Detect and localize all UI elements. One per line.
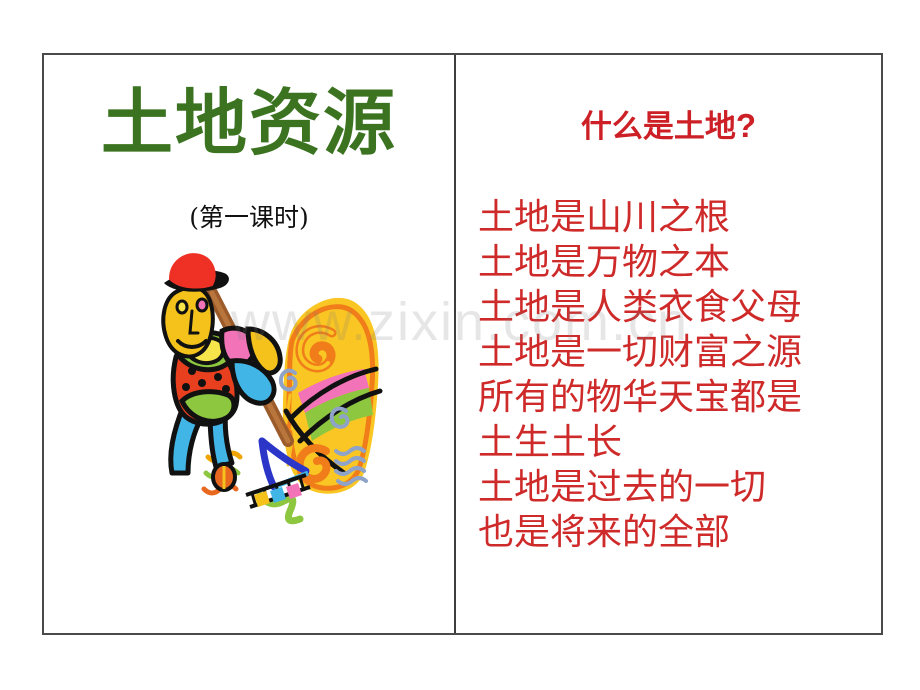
verse-line: 土地是一切财富之源 <box>478 330 872 375</box>
verse-line: 土地是人类衣食父母 <box>478 285 872 330</box>
verse-line: 也是将来的全部 <box>478 510 872 555</box>
page-title: 土地资源 <box>44 87 454 159</box>
verse-line: 土地是过去的一切 <box>478 465 872 510</box>
page-subtitle: (第一课时) <box>44 198 454 234</box>
verse-line: 土地是山川之根 <box>478 195 872 240</box>
slide-frame: 土地资源 (第一课时) <box>42 53 883 635</box>
question-mark: ? <box>736 107 756 144</box>
left-panel: 土地资源 (第一课时) <box>44 55 456 633</box>
verse-line: 所有的物华天宝都是 <box>478 375 872 420</box>
right-panel: 什么是土地? 土地是山川之根 土地是万物之本 土地是人类衣食父母 土地是一切财富… <box>456 55 881 633</box>
verse-block: 土地是山川之根 土地是万物之本 土地是人类衣食父母 土地是一切财富之源 所有的物… <box>478 195 872 555</box>
question-heading: 什么是土地? <box>456 101 881 146</box>
farmer-raking-field-icon <box>140 245 430 535</box>
question-heading-text: 什么是土地 <box>581 109 736 145</box>
verse-line: 土地是万物之本 <box>478 240 872 285</box>
verse-line: 土生土长 <box>478 420 872 465</box>
